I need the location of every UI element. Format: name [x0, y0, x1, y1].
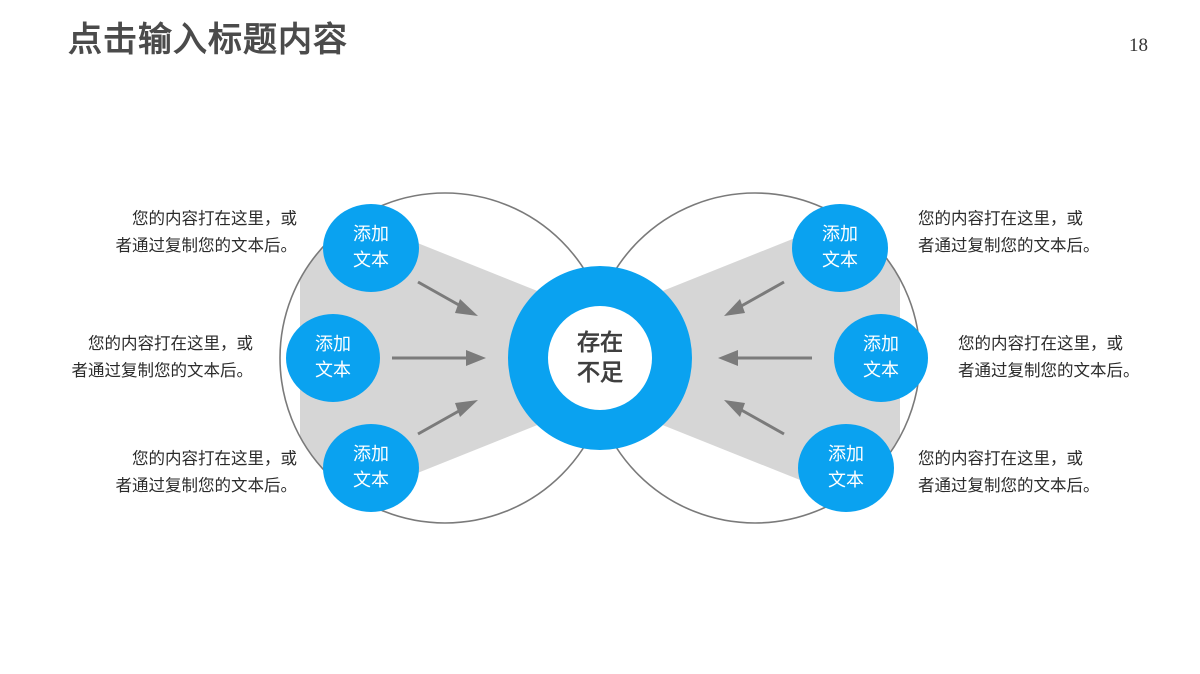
node-bubble-left-middle[interactable]: 添加 文本	[286, 314, 380, 402]
center-hub[interactable]: 存在 不足	[508, 266, 692, 450]
node-bubble-left-bottom[interactable]: 添加 文本	[323, 424, 419, 512]
caption-right-top: 您的内容打在这里，或 者通过复制您的文本后。	[918, 206, 1100, 259]
caption-line1: 您的内容打在这里，或	[72, 331, 254, 358]
node-label-line2: 文本	[353, 248, 389, 274]
caption-line2: 者通过复制您的文本后。	[958, 358, 1140, 385]
caption-line1: 您的内容打在这里，或	[116, 446, 298, 473]
caption-left-top: 您的内容打在这里，或 者通过复制您的文本后。	[116, 206, 298, 259]
node-label-line2: 文本	[828, 468, 864, 494]
node-bubble-right-bottom[interactable]: 添加 文本	[798, 424, 894, 512]
caption-line1: 您的内容打在这里，或	[918, 206, 1100, 233]
caption-line1: 您的内容打在这里，或	[116, 206, 298, 233]
caption-line2: 者通过复制您的文本后。	[918, 233, 1100, 260]
node-bubble-right-top[interactable]: 添加 文本	[792, 204, 888, 292]
caption-line1: 您的内容打在这里，或	[958, 331, 1140, 358]
caption-left-bottom: 您的内容打在这里，或 者通过复制您的文本后。	[116, 446, 298, 499]
node-bubble-left-top[interactable]: 添加 文本	[323, 204, 419, 292]
caption-right-bottom: 您的内容打在这里，或 者通过复制您的文本后。	[918, 446, 1100, 499]
node-label-line2: 文本	[863, 358, 899, 384]
node-label-line1: 添加	[828, 442, 864, 468]
caption-left-middle: 您的内容打在这里，或 者通过复制您的文本后。	[72, 331, 254, 384]
node-label-line1: 添加	[822, 222, 858, 248]
node-bubble-right-middle[interactable]: 添加 文本	[834, 314, 928, 402]
diagram-canvas: 添加 文本 添加 文本 添加 文本 添加 文本 添加 文本 添加 文本 存在 不…	[0, 0, 1200, 674]
node-label-line1: 添加	[353, 442, 389, 468]
caption-line2: 者通过复制您的文本后。	[72, 358, 254, 385]
hub-label-line1: 存在	[577, 328, 623, 358]
node-label-line2: 文本	[353, 468, 389, 494]
caption-line2: 者通过复制您的文本后。	[116, 233, 298, 260]
node-label-line1: 添加	[353, 222, 389, 248]
node-label-line2: 文本	[822, 248, 858, 274]
node-label-line1: 添加	[863, 332, 899, 358]
caption-line2: 者通过复制您的文本后。	[116, 473, 298, 500]
caption-line1: 您的内容打在这里，或	[918, 446, 1100, 473]
hub-label-line2: 不足	[577, 358, 623, 388]
center-hub-inner: 存在 不足	[548, 306, 652, 410]
node-label-line1: 添加	[315, 332, 351, 358]
caption-line2: 者通过复制您的文本后。	[918, 473, 1100, 500]
caption-right-middle: 您的内容打在这里，或 者通过复制您的文本后。	[958, 331, 1140, 384]
node-label-line2: 文本	[315, 358, 351, 384]
